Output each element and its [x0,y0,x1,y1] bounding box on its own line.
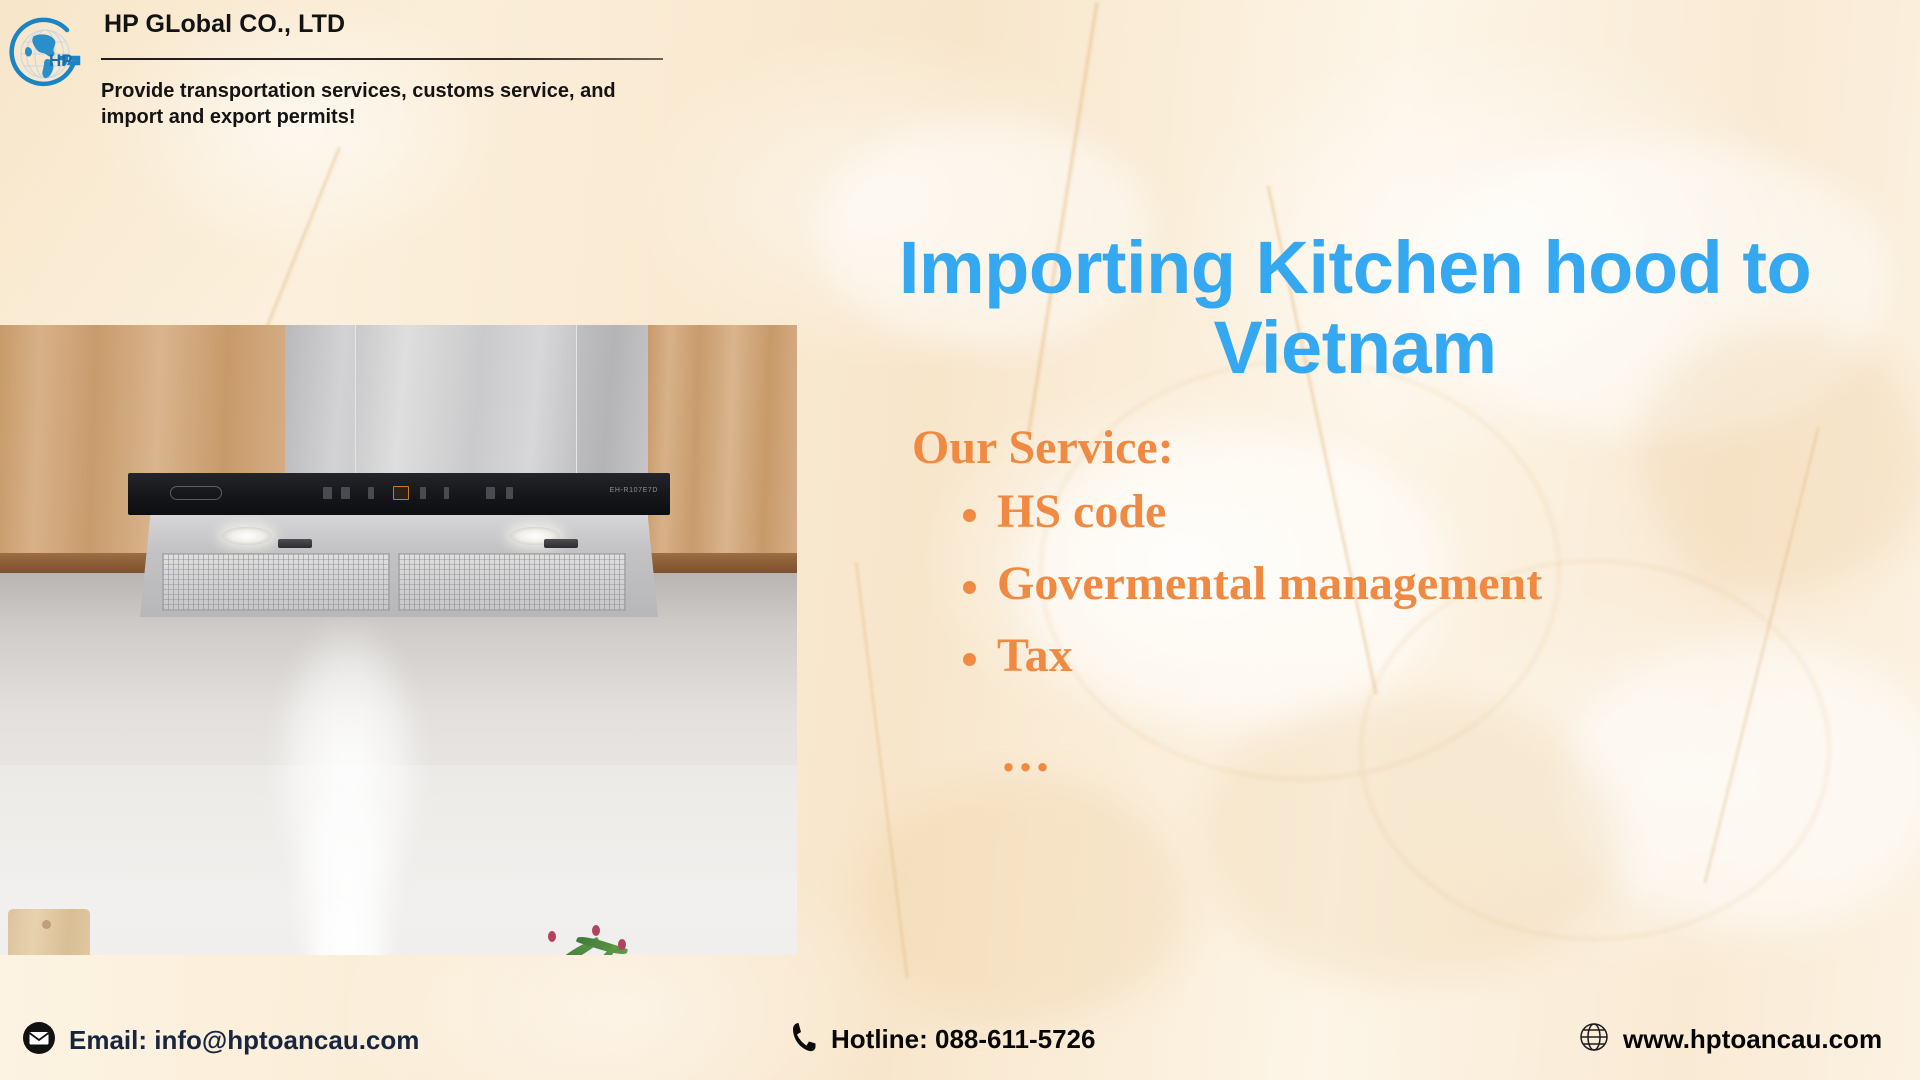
banner-header: HP HP GLobal CO., LTD Provide transporta… [0,0,1000,140]
cabinet-trim-right [648,553,797,573]
company-name: HP GLobal CO., LTD [104,10,345,39]
hood-model-label: EH-R107E7D [610,487,658,494]
hood-button-light[interactable] [486,487,495,499]
banner-footer: Email: info@hptoancau.com Hotline: 088-6… [0,1005,1920,1080]
footer-email-label: Email: info@hptoancau.com [69,1025,419,1056]
cutting-board [8,909,90,955]
globe-icon [1578,1021,1610,1058]
marketing-banner: HP HP GLobal CO., LTD Provide transporta… [0,0,1920,1080]
steam-plume [306,885,388,955]
kitchen-range-hood-photo: EH-R107E7D [0,325,797,955]
hood-filter-handle-right[interactable] [544,539,578,548]
list-item: HS code [955,485,1835,539]
envelope-icon [22,1021,56,1060]
hood-button-mode[interactable] [341,487,350,499]
company-tagline: Provide transportation services, customs… [101,78,661,130]
footer-website-label: www.hptoancau.com [1623,1024,1882,1055]
header-divider [101,58,663,60]
service-ellipsis: ... [1002,725,1053,784]
hood-brand-badge [170,486,222,500]
hood-button-power[interactable] [506,487,513,499]
range-hood-neck [355,325,577,473]
plant-bud [592,925,600,936]
hood-button-plus[interactable] [420,487,426,499]
phone-icon [790,1021,818,1058]
cutting-board-hole [42,920,51,929]
hood-display [393,486,409,500]
footer-hotline-label: Hotline: 088-611-5726 [831,1024,1095,1055]
list-item: Tax [955,629,1835,683]
service-heading: Our Service: [912,420,1174,475]
hood-grease-filter-right [398,553,626,611]
hood-button-timer[interactable] [444,487,449,499]
plant-bud [618,939,626,950]
hood-filter-handle-left[interactable] [278,539,312,548]
upper-cabinet-right [648,325,797,553]
hood-button-minus[interactable] [368,487,374,499]
footer-hotline[interactable]: Hotline: 088-611-5726 [790,1021,1095,1058]
hood-button-fan[interactable] [323,487,332,499]
marble-shade-blob [860,780,1190,1020]
footer-website[interactable]: www.hptoancau.com [1578,1021,1882,1058]
service-list: HS code Govermental management Tax [955,485,1835,700]
plant-bud [548,931,556,942]
marble-vein [263,146,343,333]
globe-hp-logo-icon: HP [4,14,84,94]
page-title: Importing Kitchen hood to Vietnam [840,228,1870,388]
hood-grease-filter-left [162,553,390,611]
range-hood-control-panel: EH-R107E7D [128,473,670,515]
svg-text:HP: HP [49,51,73,70]
hood-lamp-left [222,527,272,545]
list-item: Govermental management [955,557,1835,611]
range-hood-body [140,515,658,617]
footer-email[interactable]: Email: info@hptoancau.com [22,1021,419,1060]
